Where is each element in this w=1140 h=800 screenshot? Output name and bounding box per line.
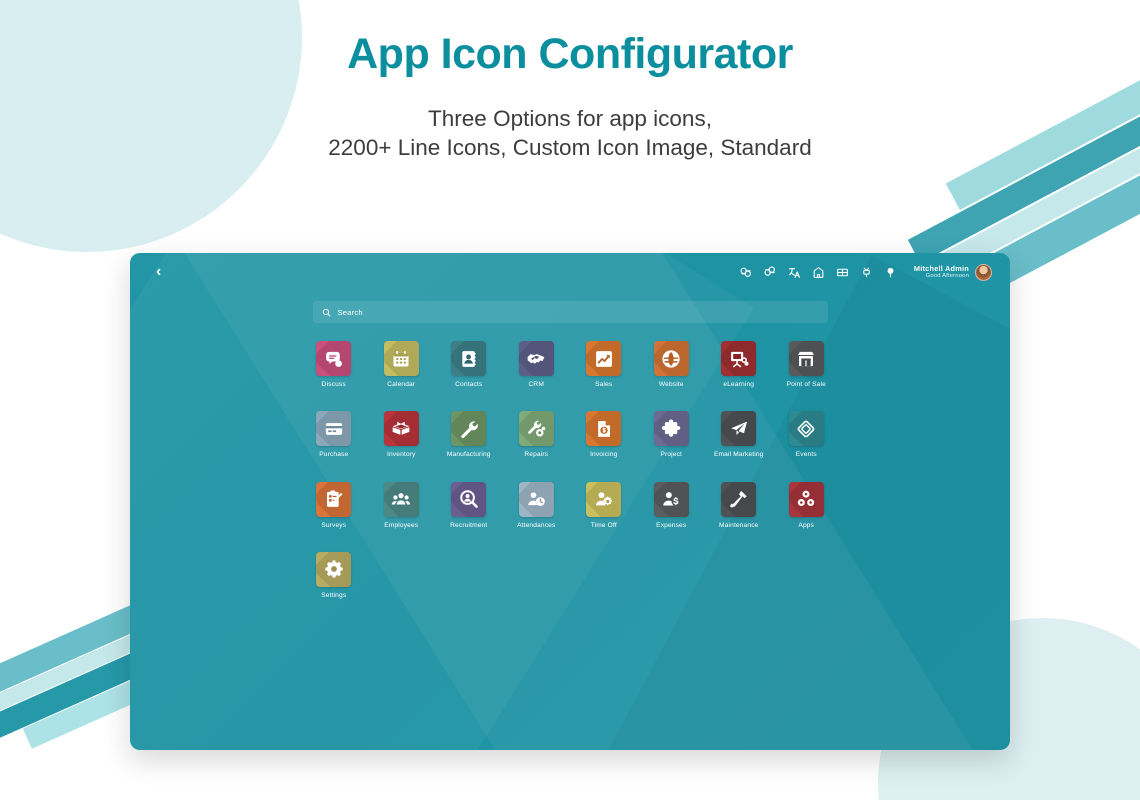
systray: Mitchell Admin Good Afternoon [739,264,992,281]
handshake-icon[interactable] [519,341,554,376]
app-label: Email Marketing [714,451,764,458]
open-box-icon[interactable] [384,411,419,446]
app-item[interactable]: Recruitment [438,482,500,529]
storefront-icon[interactable] [789,341,824,376]
app-item[interactable]: eLearning [708,341,770,388]
app-label: Repairs [524,451,548,458]
user-greeting: Good Afternoon [914,273,969,280]
app-label: Attendances [517,522,555,529]
magnifier-person-icon[interactable] [451,482,486,517]
invoice-dollar-icon[interactable] [586,411,621,446]
subtitle-line-1: Three Options for app icons, [0,105,1140,134]
app-item[interactable]: Time Off [573,482,635,529]
chat-bubble-icon[interactable] [316,341,351,376]
chart-up-icon[interactable] [586,341,621,376]
credit-card-icon[interactable] [316,411,351,446]
app-window: ‹ [130,253,1010,750]
app-label: Contacts [455,381,482,388]
activities-icon[interactable] [763,265,778,280]
app-label: Events [796,451,817,458]
apps-grid-icon[interactable] [835,265,850,280]
wrench-gear-icon[interactable] [519,411,554,446]
messaging-icon[interactable] [739,265,754,280]
app-item[interactable]: Repairs [505,411,567,458]
app-label: Website [659,381,684,388]
app-item[interactable]: Settings [303,552,365,599]
subtitle-line-2: 2200+ Line Icons, Custom Icon Image, Sta… [0,134,1140,163]
search-input[interactable]: Search [313,301,828,323]
app-item[interactable]: Employees [370,482,432,529]
app-item[interactable]: Apps [775,482,837,529]
app-label: Time Off [591,522,617,529]
wrench-icon[interactable] [451,411,486,446]
app-item[interactable]: Invoicing [573,411,635,458]
app-label: Discuss [322,381,346,388]
app-label: Expenses [656,522,686,529]
app-item[interactable]: Purchase [303,411,365,458]
user-menu[interactable]: Mitchell Admin Good Afternoon [914,264,992,281]
app-label: Maintenance [719,522,758,529]
blocks-icon[interactable] [789,482,824,517]
enterprise-icon[interactable] [811,265,826,280]
app-item[interactable]: Expenses [640,482,702,529]
globe-icon[interactable] [654,341,689,376]
app-item[interactable]: Discuss [303,341,365,388]
people-group-icon[interactable] [384,482,419,517]
contact-card-icon[interactable] [451,341,486,376]
top-bar: ‹ [130,253,1010,291]
app-item[interactable]: Surveys [303,482,365,529]
app-item[interactable]: Maintenance [708,482,770,529]
app-item[interactable]: Inventory [370,411,432,458]
app-label: eLearning [723,381,754,388]
calendar-icon[interactable] [384,341,419,376]
app-label: Inventory [387,451,415,458]
page-subtitle: Three Options for app icons, 2200+ Line … [0,105,1140,163]
app-label: Calendar [387,381,415,388]
app-item[interactable]: Sales [573,341,635,388]
app-item[interactable]: Calendar [370,341,432,388]
app-item[interactable]: Website [640,341,702,388]
debug-bug-icon[interactable] [859,265,874,280]
app-item[interactable]: Manufacturing [438,411,500,458]
app-item[interactable]: Events [775,411,837,458]
search-icon [322,308,331,317]
app-label: Purchase [319,451,348,458]
app-item[interactable]: Email Marketing [708,411,770,458]
app-item[interactable]: Point of Sale [775,341,837,388]
gear-icon[interactable] [316,552,351,587]
app-grid: Discuss Calendar Contacts CRM Sales [300,341,840,599]
app-label: CRM [529,381,544,388]
help-lightbulb-icon[interactable] [883,265,898,280]
app-label: Recruitment [450,522,487,529]
search-row: Search [130,291,1010,323]
user-text: Mitchell Admin Good Afternoon [914,265,969,280]
person-clock-icon[interactable] [519,482,554,517]
app-label: Surveys [321,522,346,529]
back-button[interactable]: ‹ [156,264,161,280]
page-root: App Icon Configurator Three Options for … [0,0,1140,800]
app-item[interactable]: CRM [505,341,567,388]
person-gear-icon[interactable] [586,482,621,517]
app-label: Invoicing [590,451,617,458]
clipboard-pen-icon[interactable] [316,482,351,517]
hammer-icon[interactable] [721,482,756,517]
app-label: Employees [384,522,418,529]
app-label: Project [660,451,682,458]
app-label: Sales [595,381,612,388]
app-item[interactable]: Project [640,411,702,458]
app-label: Point of Sale [787,381,826,388]
ticket-diamond-icon[interactable] [789,411,824,446]
puzzle-piece-icon[interactable] [654,411,689,446]
translate-icon[interactable] [787,265,802,280]
user-name: Mitchell Admin [914,265,969,273]
app-label: Apps [798,522,814,529]
search-placeholder: Search [338,308,363,317]
page-title: App Icon Configurator [0,30,1140,79]
app-label: Settings [321,592,346,599]
person-dollar-icon[interactable] [654,482,689,517]
app-item[interactable]: Contacts [438,341,500,388]
app-item[interactable]: Attendances [505,482,567,529]
presentation-icon[interactable] [721,341,756,376]
header: App Icon Configurator Three Options for … [0,0,1140,163]
paper-plane-icon[interactable] [721,411,756,446]
app-label: Manufacturing [447,451,491,458]
avatar[interactable] [975,264,992,281]
